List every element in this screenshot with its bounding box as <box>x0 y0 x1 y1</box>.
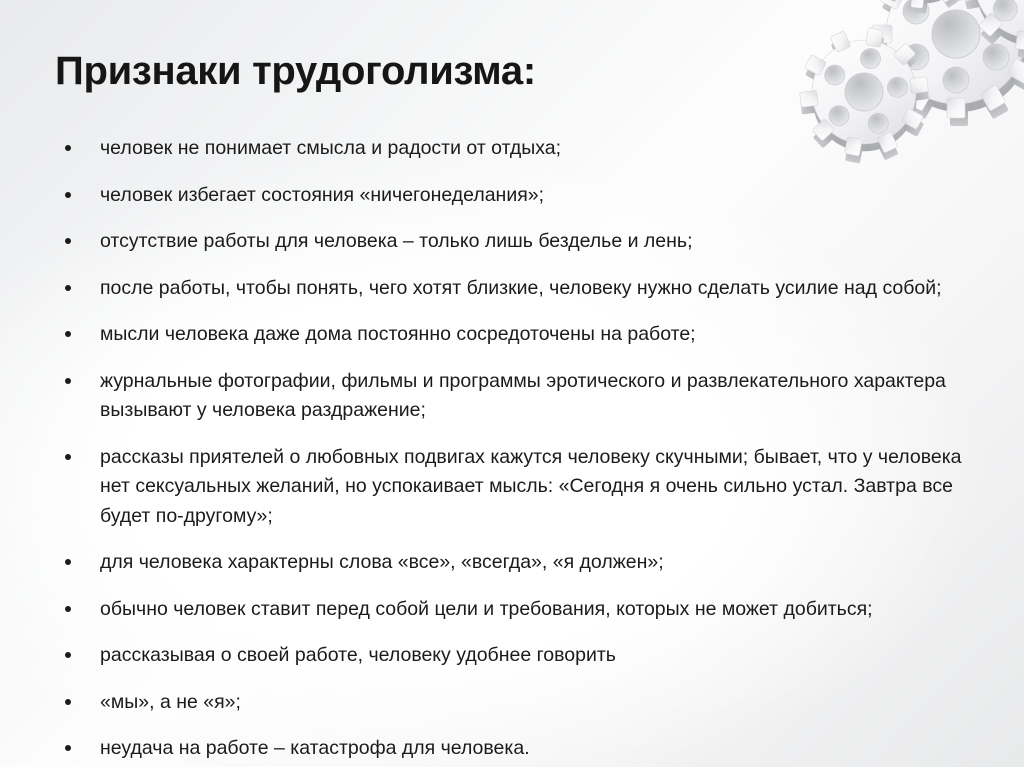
bullet-dot-icon <box>65 238 71 244</box>
bullet-dot-icon <box>65 192 71 198</box>
signs-bullet-list: человек не понимает смысла и радости от … <box>60 134 965 764</box>
bullet-dot-icon <box>65 454 71 460</box>
bullet-dot-icon <box>65 699 71 705</box>
list-item: после работы, чтобы понять, чего хотят б… <box>60 274 965 304</box>
list-item: человек не понимает смысла и радости от … <box>60 134 965 164</box>
list-item: мысли человека даже дома постоянно сосре… <box>60 320 965 350</box>
list-item: для человека характерны слова «все», «вс… <box>60 548 965 578</box>
bullet-dot-icon <box>65 285 71 291</box>
list-item-text: рассказы приятелей о любовных подвигах к… <box>100 443 965 532</box>
list-item-text: после работы, чтобы понять, чего хотят б… <box>100 274 965 304</box>
list-item: человек избегает состояния «ничегонедела… <box>60 181 965 211</box>
list-item-text: рассказывая о своей работе, человеку удо… <box>100 641 965 671</box>
list-item-text: неудача на работе – катастрофа для челов… <box>100 734 965 764</box>
list-item: рассказывая о своей работе, человеку удо… <box>60 641 965 671</box>
list-item-text: журнальные фотографии, фильмы и программ… <box>100 367 965 426</box>
list-item-text: отсутствие работы для человека – только … <box>100 227 965 257</box>
bullet-dot-icon <box>65 378 71 384</box>
list-item-text: человек избегает состояния «ничегонедела… <box>100 181 965 211</box>
page-title: Признаки трудоголизма: <box>55 49 536 94</box>
list-item-text: мысли человека даже дома постоянно сосре… <box>100 320 965 350</box>
list-item: журнальные фотографии, фильмы и программ… <box>60 367 965 426</box>
list-item-text: для человека характерны слова «все», «вс… <box>100 548 965 578</box>
list-item: рассказы приятелей о любовных подвигах к… <box>60 443 965 532</box>
bullet-dot-icon <box>65 606 71 612</box>
list-item-text: человек не понимает смысла и радости от … <box>100 134 965 164</box>
bullet-dot-icon <box>65 145 71 151</box>
bullet-dot-icon <box>65 652 71 658</box>
list-item-text: обычно человек ставит перед собой цели и… <box>100 595 965 625</box>
slide-canvas: Признаки трудоголизма: человек не понима… <box>0 0 1024 767</box>
list-item: отсутствие работы для человека – только … <box>60 227 965 257</box>
list-item: «мы», а не «я»; <box>60 688 965 718</box>
bullet-dot-icon <box>65 745 71 751</box>
list-item-text: «мы», а не «я»; <box>100 688 965 718</box>
bullet-dot-icon <box>65 559 71 565</box>
list-item: неудача на работе – катастрофа для челов… <box>60 734 965 764</box>
bullet-dot-icon <box>65 331 71 337</box>
list-item: обычно человек ставит перед собой цели и… <box>60 595 965 625</box>
